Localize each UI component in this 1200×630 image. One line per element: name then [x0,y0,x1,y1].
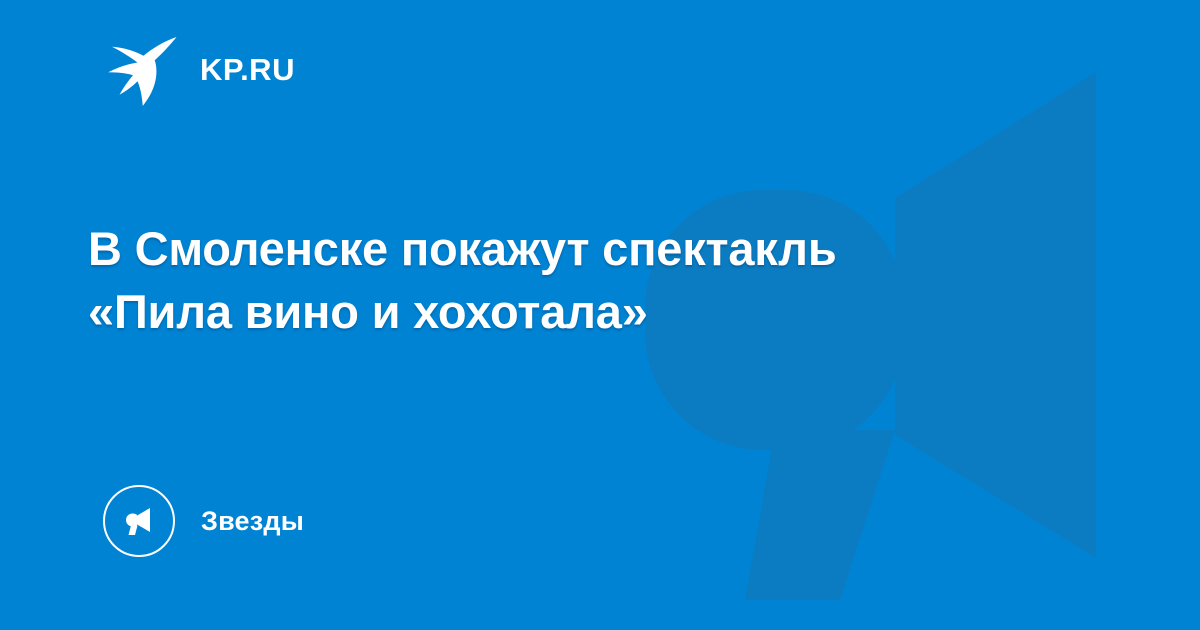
brand-header: KP.RU [104,34,295,106]
rubric-badge[interactable]: Звезды [103,484,304,558]
megaphone-icon [119,501,159,541]
rubric-icon-circle [103,485,175,557]
headline-line-2: «Пила вино и хохотала» [88,281,1098,344]
headline: В Смоленске покажут спектакль «Пила вино… [88,218,1098,343]
share-card: KP.RU В Смоленске покажут спектакль «Пил… [0,0,1200,630]
rubric-label: Звезды [201,508,304,535]
brand-wordmark: KP.RU [200,54,295,87]
kp-swallow-bird-logo-icon [104,34,180,106]
headline-line-1: В Смоленске покажут спектакль [88,218,1098,281]
